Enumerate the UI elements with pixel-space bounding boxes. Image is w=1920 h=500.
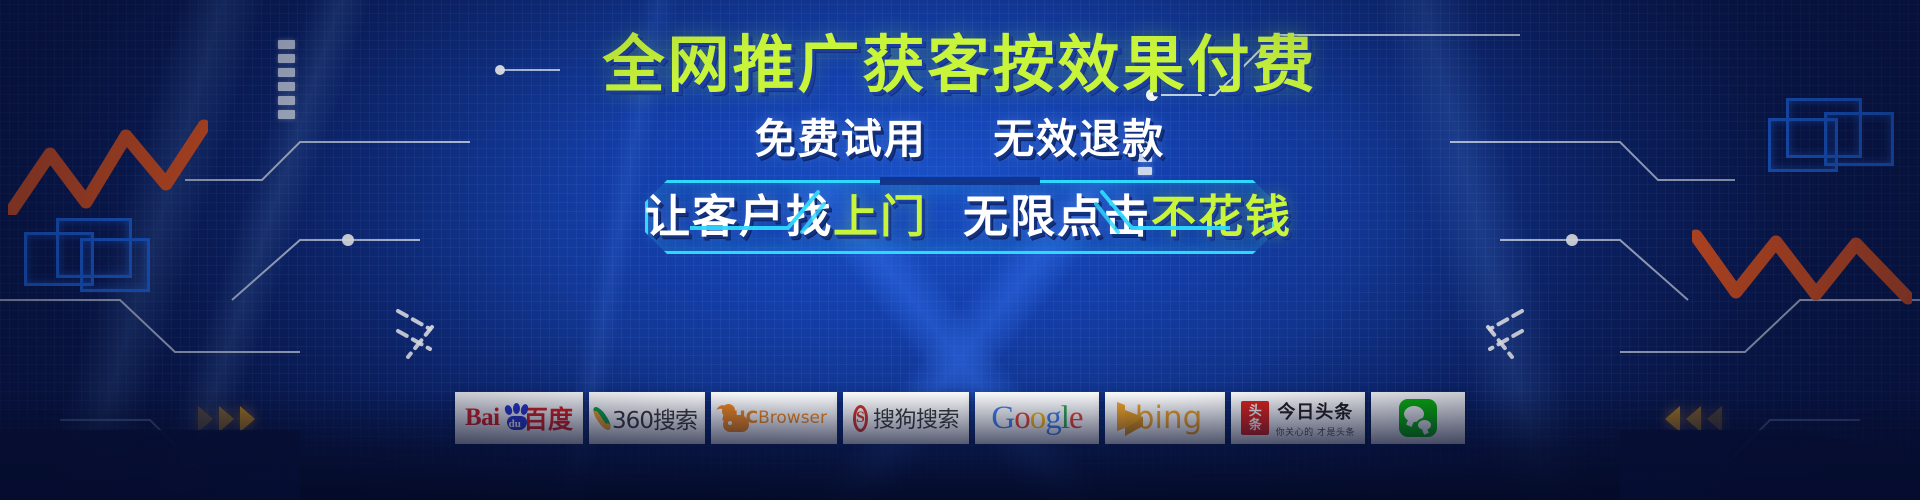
promo-banner: 全网推广获客按效果付费 免费试用 无效退款 让客户找上门无限点击不花钱 (0, 0, 1920, 500)
callout-part1-highlight: 上门 (833, 190, 927, 243)
headline-block: 全网推广获客按效果付费 免费试用 无效退款 让客户找上门无限点击不花钱 (0, 34, 1920, 254)
framed-callout-text: 让客户找上门无限点击不花钱 (645, 180, 1275, 254)
framed-callout: 让客户找上门无限点击不花钱 (645, 180, 1275, 254)
page-title: 全网推广获客按效果付费 (0, 34, 1920, 96)
subheadline: 免费试用 无效退款 (0, 119, 1920, 160)
dashed-chevron-left-icon (392, 305, 454, 372)
callout-part1: 让客户找 (645, 190, 833, 243)
dashed-chevron-right-icon (1466, 305, 1528, 372)
callout-part2: 无限点击 (963, 190, 1151, 243)
subheadline-right: 无效退款 (993, 115, 1165, 163)
subheadline-left: 免费试用 (755, 115, 927, 163)
callout-part2-highlight: 不花钱 (1151, 190, 1292, 243)
floor-shape-left (0, 430, 300, 500)
